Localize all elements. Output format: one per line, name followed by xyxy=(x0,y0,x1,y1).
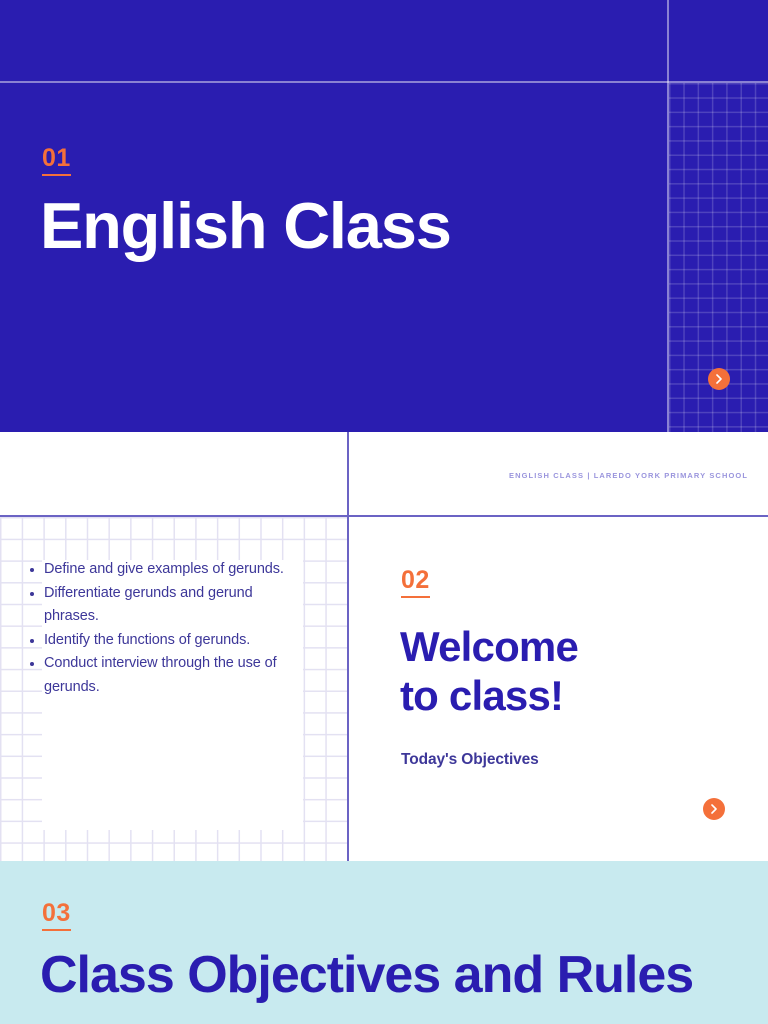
objectives-list: Define and give examples of gerunds. Dif… xyxy=(28,558,300,699)
slide-two-title-line-1: Welcome xyxy=(400,623,578,670)
slide-number-02: 02 xyxy=(401,568,430,598)
next-slide-button-one[interactable] xyxy=(708,368,730,390)
list-item: Define and give examples of gerunds. xyxy=(28,558,300,582)
slide-kicker-school-name: ENGLISH CLASS | LAREDO YORK PRIMARY SCHO… xyxy=(509,471,748,480)
slide-two-subtitle: Today's Objectives xyxy=(401,751,539,769)
slide-three-title: Class Objectives and Rules xyxy=(40,948,693,1003)
slide-number-03: 03 xyxy=(42,901,71,931)
horizontal-rule-middle xyxy=(0,515,768,517)
slide-two-title: Welcome to class! xyxy=(400,623,578,720)
slide-deck: 01 English Class ENGLISH CLASS | LAREDO … xyxy=(0,0,768,1024)
slide-number-01: 01 xyxy=(42,146,71,176)
vertical-rule-right xyxy=(667,0,669,432)
slide-english-class: 01 English Class xyxy=(0,0,768,432)
slide-two-title-line-2: to class! xyxy=(400,672,563,719)
list-item: Conduct interview through the use of ger… xyxy=(28,652,300,699)
horizontal-rule-top xyxy=(0,81,768,83)
slide-one-title: English Class xyxy=(40,192,451,260)
chevron-right-icon xyxy=(710,804,718,814)
list-item: Identify the functions of gerunds. xyxy=(28,629,300,653)
next-slide-button-two[interactable] xyxy=(703,798,725,820)
list-item: Differentiate gerunds and gerund phrases… xyxy=(28,582,300,629)
chevron-right-icon xyxy=(715,374,723,384)
vertical-divider xyxy=(347,432,349,861)
